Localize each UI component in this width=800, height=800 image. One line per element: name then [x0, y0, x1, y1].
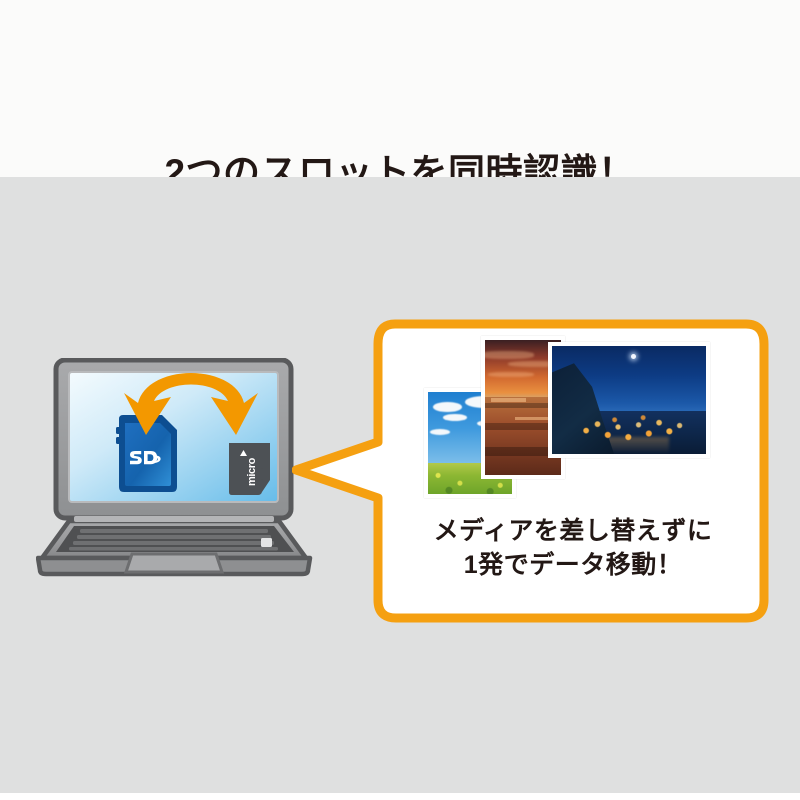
- microsd-card-icon: micro: [226, 440, 274, 498]
- photo-stack: [424, 336, 710, 506]
- microsd-label: micro: [246, 457, 258, 486]
- callout-text: メディアを差し替えずに 1発でデータ移動！: [378, 514, 768, 582]
- photo-night-village: [548, 342, 710, 458]
- promo-illustration: 2つのスロットを同時認識！ メディア間でのデータのコピーができる: [0, 0, 800, 800]
- footer-band: [0, 793, 800, 800]
- double-headed-arc-arrow-icon: [108, 357, 274, 439]
- photo-3-town-lights: [577, 409, 691, 446]
- callout-text-line-1: メディアを差し替えずに: [378, 514, 768, 548]
- svg-text:micro: micro: [246, 457, 258, 486]
- photo-3-moon: [631, 354, 636, 359]
- laptop-base: [38, 516, 310, 574]
- callout-bubble: メディアを差し替えずに 1発でデータ移動！: [292, 300, 770, 624]
- callout-text-line-2: 1発でデータ移動！: [378, 548, 768, 582]
